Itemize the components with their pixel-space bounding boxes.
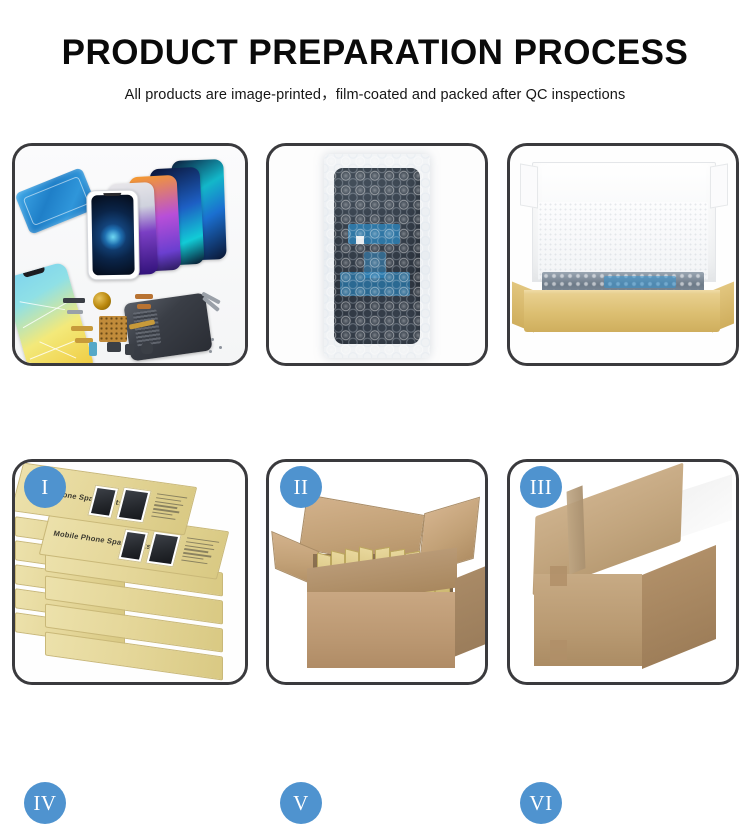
small-part (107, 342, 121, 352)
box-screen-graphic (115, 487, 151, 524)
small-part (63, 298, 85, 303)
box-spec-lines (151, 493, 188, 523)
step-badge-4: IV (24, 782, 66, 824)
small-part (141, 342, 153, 354)
step-badge-5: V (280, 782, 322, 824)
screw-part (209, 350, 212, 353)
screw-part (211, 338, 214, 341)
step-badge-3: III (520, 466, 562, 508)
step-badge-2: II (280, 466, 322, 508)
small-part (137, 304, 151, 309)
carton-side-panel (455, 562, 485, 657)
step-card-2 (266, 143, 488, 366)
box-screen-graphic (87, 485, 119, 519)
foam-lining (538, 202, 708, 280)
phone-screen-1 (86, 190, 140, 281)
speaker-coil-part (93, 292, 111, 310)
flex-cable-part (71, 326, 93, 331)
step-2-image (269, 146, 485, 363)
process-steps-grid: I II (12, 143, 739, 685)
box-screen-graphic (145, 531, 181, 568)
small-part (125, 344, 134, 355)
step-badge-1: I (24, 466, 66, 508)
small-part (89, 342, 97, 356)
packing-tape (567, 485, 586, 574)
carton-tab-lower (550, 640, 567, 660)
step-3-image (510, 146, 736, 363)
carton-front-panel (307, 592, 455, 668)
step-card-3 (507, 143, 739, 366)
screw-part (219, 346, 222, 349)
sealed-carton-side (642, 545, 716, 669)
small-part (67, 310, 83, 314)
bubble-texture-back (324, 154, 430, 358)
box-front-panel (524, 294, 720, 332)
chip-array-part (99, 316, 127, 342)
small-part (135, 294, 153, 299)
step-card-1 (12, 143, 248, 366)
page-title: PRODUCT PREPARATION PROCESS (0, 33, 750, 73)
box-screen-graphic (117, 529, 149, 563)
page-subtitle: All products are image-printed，film-coat… (0, 83, 750, 104)
step-badge-6: VI (520, 782, 562, 824)
step-1-image (15, 146, 245, 363)
box-spec-lines (181, 537, 220, 567)
carton-tab-upper (550, 566, 567, 586)
